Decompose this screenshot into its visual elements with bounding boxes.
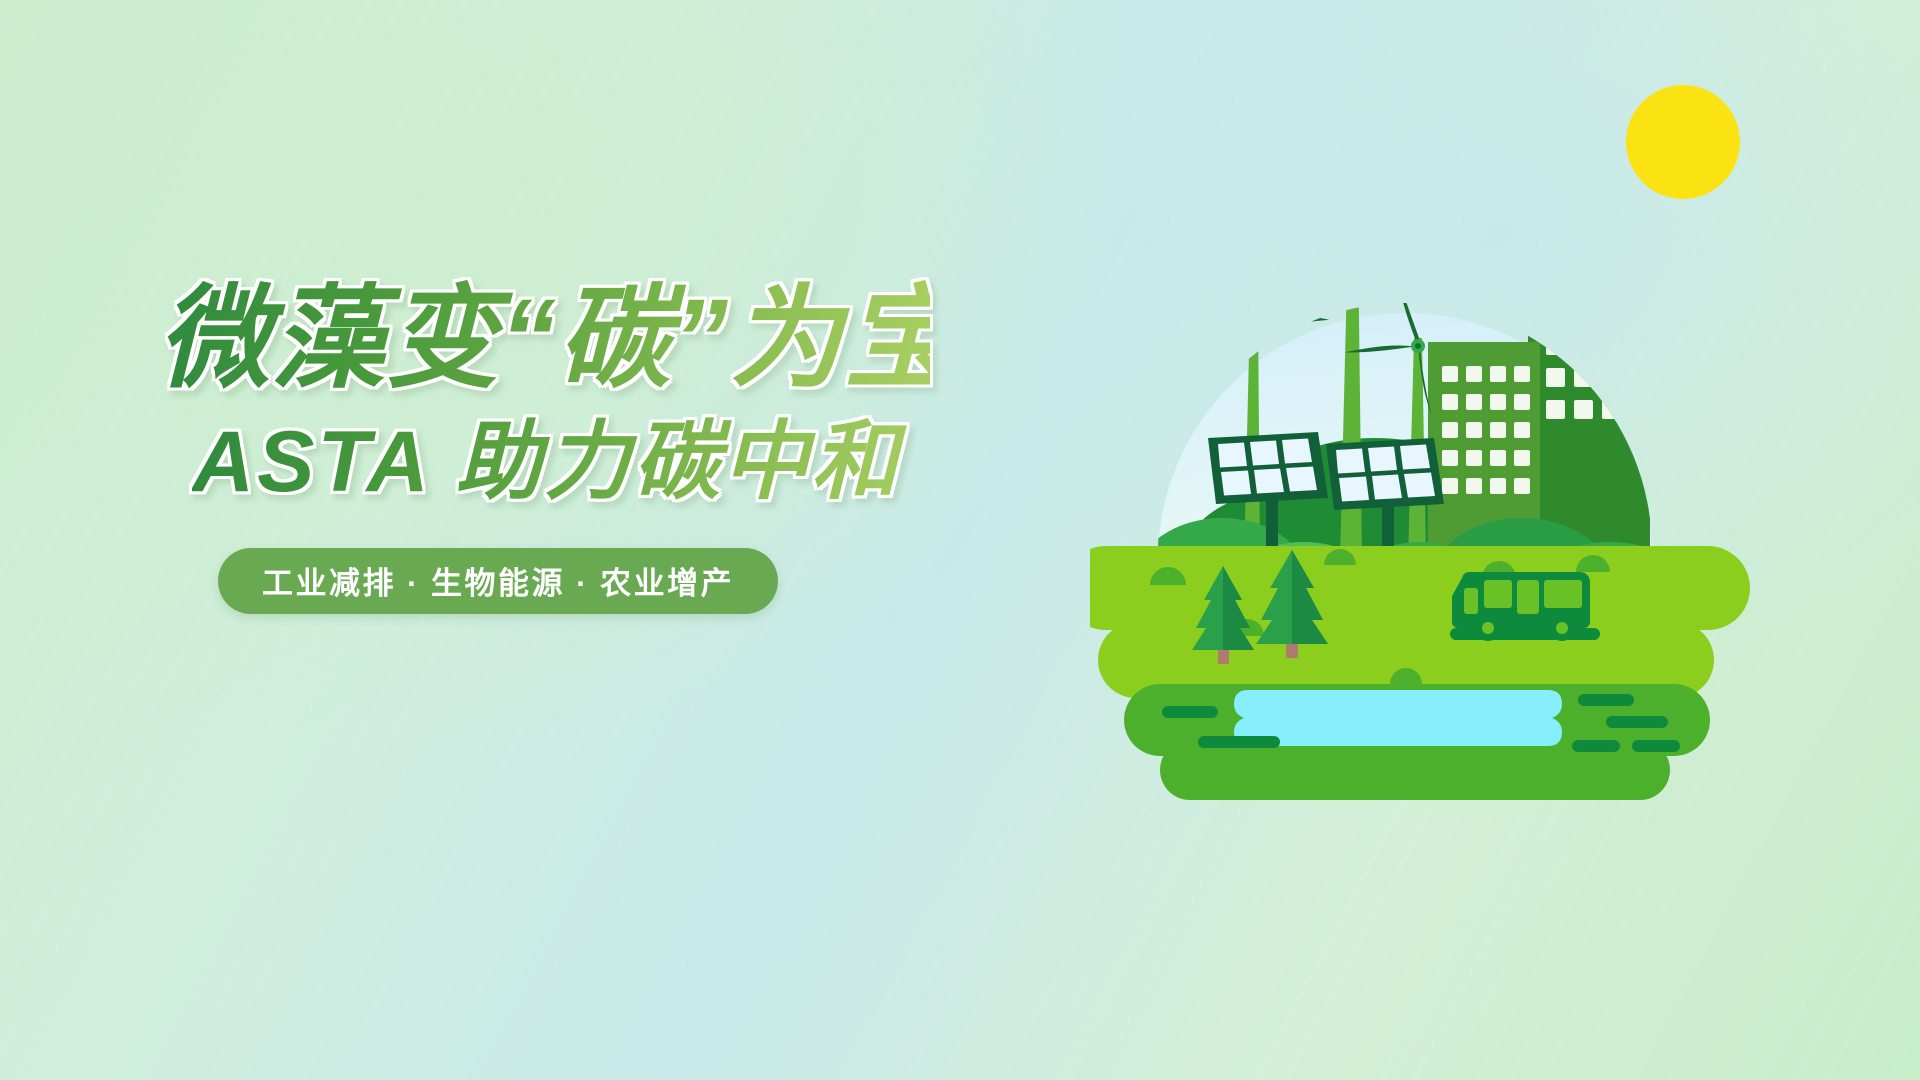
bus-window: [1484, 580, 1512, 608]
eco-banner: 微藻变“碳”为宝 ASTA 助力碳中和 工业减排 · 生物能源 · 农业增产: [0, 0, 1920, 1080]
bus-door-window: [1464, 588, 1478, 614]
electric-bus: [1450, 572, 1600, 641]
land-slabs: [1090, 546, 1750, 800]
bus-window: [1517, 580, 1539, 614]
bus-wheel-hub: [1556, 622, 1568, 634]
pond: [1234, 690, 1562, 746]
grass-layer-top: [1090, 546, 1750, 630]
page-subtitle: ASTA 助力碳中和: [192, 417, 930, 508]
text-block: 微藻变“碳”为宝 ASTA 助力碳中和 工业减排 · 生物能源 · 农业增产: [150, 280, 930, 614]
sun-icon: [1626, 85, 1740, 199]
bus-window: [1544, 580, 1582, 608]
bus-road: [1450, 628, 1600, 640]
tagline-badge: 工业减排 · 生物能源 · 农业增产: [218, 548, 778, 614]
turbine-blades: [1271, 154, 1437, 280]
green-eco-city-illustration: [1090, 80, 1790, 800]
page-title: 微藻变“碳”为宝: [158, 280, 930, 399]
bus-wheel-hub: [1482, 622, 1494, 634]
